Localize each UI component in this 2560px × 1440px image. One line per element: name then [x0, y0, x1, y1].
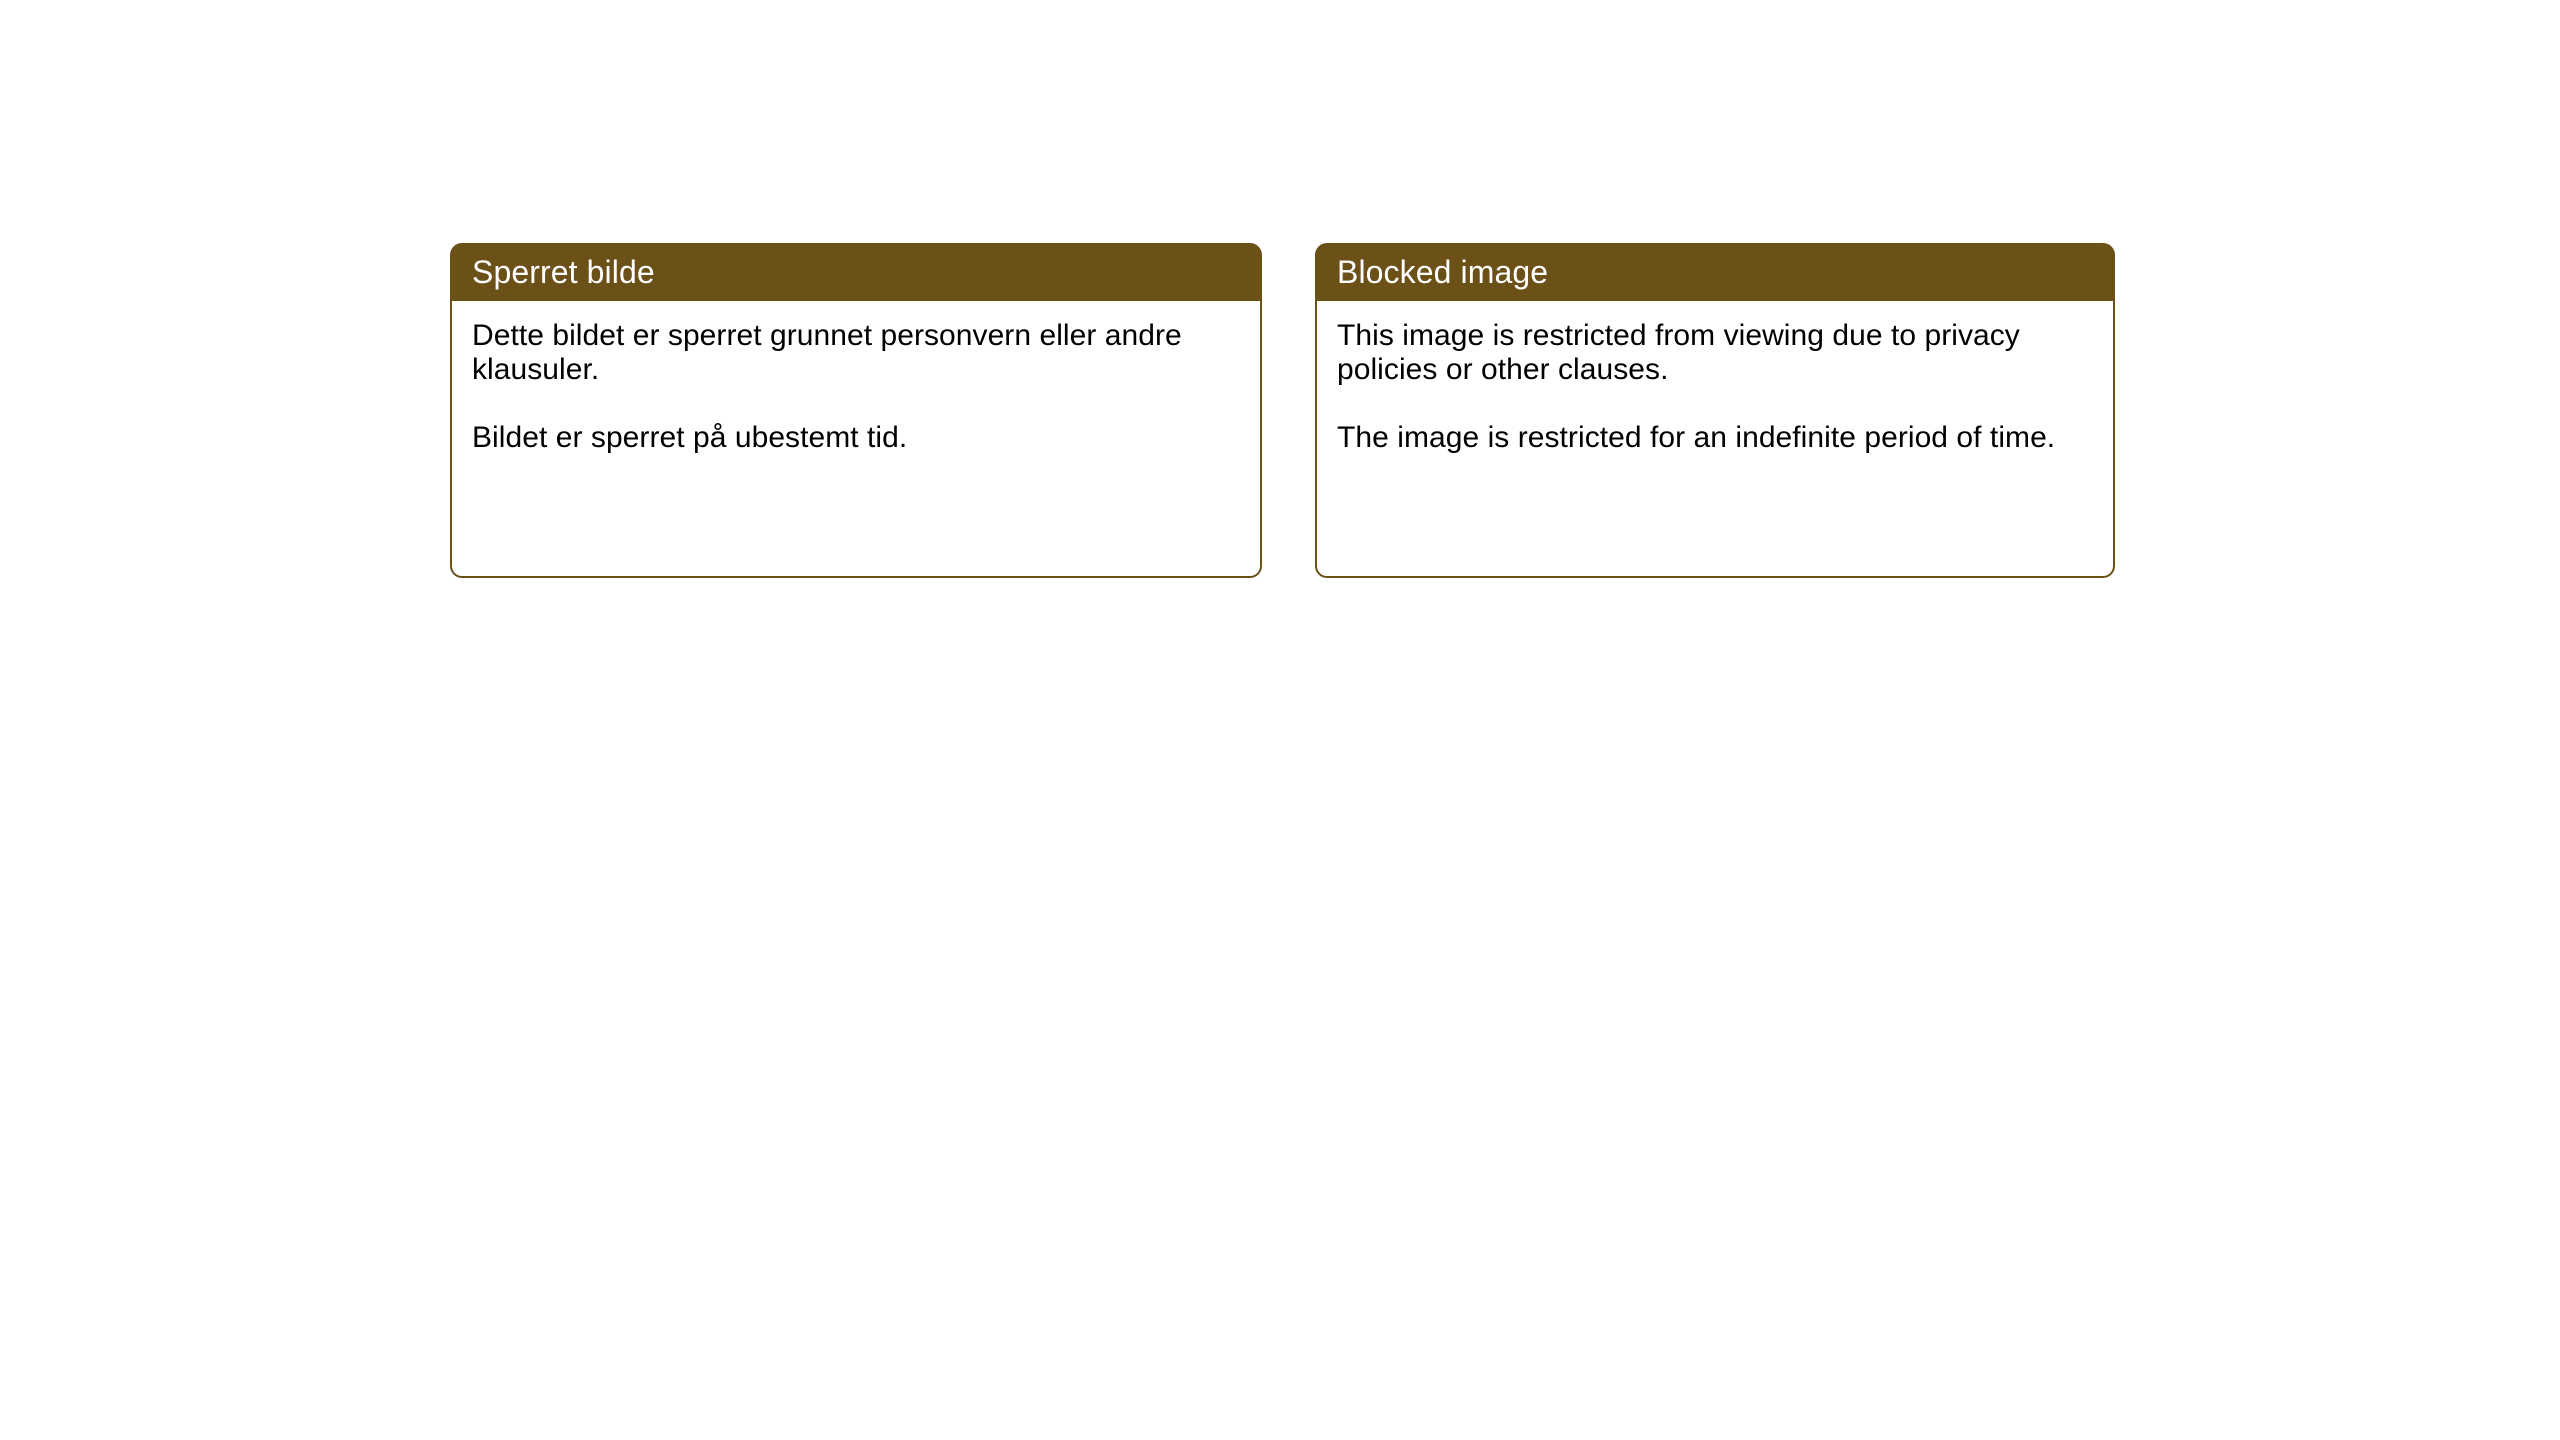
panel-title-norwegian: Sperret bilde: [472, 256, 655, 288]
panel-body-english: This image is restricted from viewing du…: [1315, 301, 2115, 578]
panel-paragraph-reason-english: This image is restricted from viewing du…: [1337, 319, 2095, 387]
blocked-image-notice-norwegian: Sperret bilde Dette bildet er sperret gr…: [450, 243, 1262, 578]
blocked-image-notice-english: Blocked image This image is restricted f…: [1315, 243, 2115, 578]
page-canvas: Sperret bilde Dette bildet er sperret gr…: [0, 0, 2560, 1440]
panel-paragraph-reason-norwegian: Dette bildet er sperret grunnet personve…: [472, 319, 1242, 387]
panel-title-english: Blocked image: [1337, 256, 1548, 288]
panel-body-norwegian: Dette bildet er sperret grunnet personve…: [450, 301, 1262, 578]
panel-header-norwegian: Sperret bilde: [450, 243, 1262, 301]
panel-paragraph-duration-norwegian: Bildet er sperret på ubestemt tid.: [472, 421, 1242, 455]
panel-header-english: Blocked image: [1315, 243, 2115, 301]
panel-paragraph-duration-english: The image is restricted for an indefinit…: [1337, 421, 2095, 455]
